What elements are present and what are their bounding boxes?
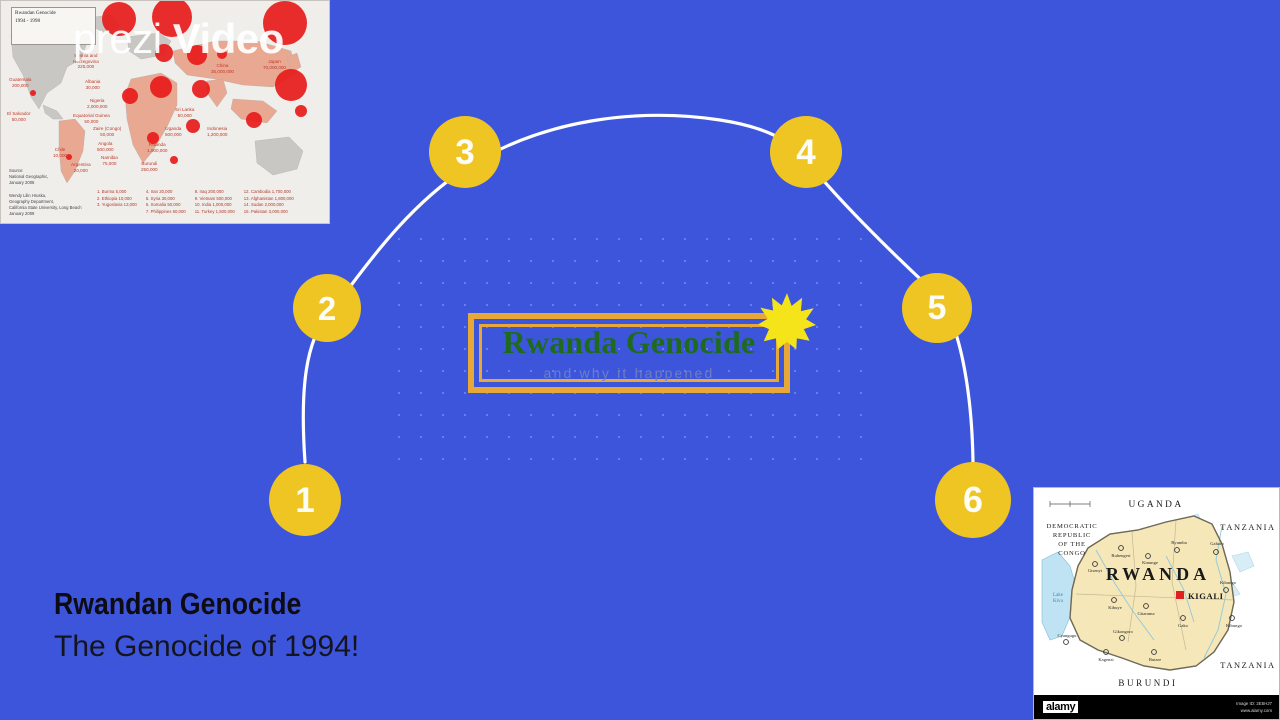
map-country-label: Equatorial Guinea 50,000 [73, 113, 110, 124]
legend-column-2: 4. Iran 20,000 5. Syria 30,000 6. Somali… [146, 189, 186, 215]
path-node-6-label: 6 [963, 482, 983, 518]
map-country-label: Bosnia and Herzegovina 225,000 [73, 53, 99, 70]
svg-text:Kibungo: Kibungo [1226, 623, 1243, 628]
svg-text:Gikongoro: Gikongoro [1113, 629, 1134, 634]
path-node-6[interactable]: 6 [935, 462, 1011, 538]
map-country-label: Zaire (Congo) 50,000 [93, 126, 121, 137]
map-country-label: El Salvador 50,000 [7, 111, 31, 122]
svg-text:Lake: Lake [1053, 593, 1064, 598]
alamy-credit: Image ID: 2E5HJ7 www.alamy.com [1236, 700, 1272, 714]
path-node-2-label: 2 [318, 292, 336, 325]
path-node-5-label: 5 [928, 291, 947, 325]
svg-text:Gako: Gako [1178, 623, 1189, 628]
path-node-3[interactable]: 3 [429, 116, 501, 188]
map-country-label: Angola 500,000 [97, 141, 114, 152]
caption-subheading: The Genocide of 1994! [54, 630, 359, 664]
map-country-label: Japan 70,000,000 [263, 59, 286, 70]
rwanda-map-inset[interactable]: RWANDA KIGALI UGANDA TANZANIA TANZANIA B… [1033, 487, 1280, 720]
path-node-2[interactable]: 2 [293, 274, 361, 342]
path-node-5[interactable]: 5 [902, 273, 972, 343]
svg-text:Butare: Butare [1149, 657, 1161, 662]
map-country-label: Chile 10,000 [53, 147, 67, 158]
map-country-label: Uganda 500,000 [165, 126, 182, 137]
svg-text:REPUBLIC: REPUBLIC [1053, 532, 1091, 539]
svg-text:Ruhengeri: Ruhengeri [1111, 553, 1131, 558]
path-node-4[interactable]: 4 [770, 116, 842, 188]
map-country-label: Indonesia 1,200,000 [207, 126, 227, 137]
path-node-1[interactable]: 1 [269, 464, 341, 536]
page-title: Rwanda Genocide [474, 324, 784, 361]
svg-text:Byumba: Byumba [1171, 540, 1187, 545]
svg-text:CONGO: CONGO [1058, 550, 1085, 557]
rwanda-map-graphic: RWANDA KIGALI UGANDA TANZANIA TANZANIA B… [1036, 490, 1279, 695]
svg-text:Kagenzi: Kagenzi [1098, 657, 1114, 662]
legend-column-4: 12. Cambodia 1,700,000 13. Afghanistan 1… [244, 189, 294, 215]
svg-text:RWANDA: RWANDA [1106, 564, 1210, 584]
legend-column-3: 8. Iraq 200,000 9. Vietnam 500,000 10. I… [195, 189, 235, 215]
world-map-legend: 1. Burma 5,000 2. Ethiopia 10,000 3. Yug… [97, 189, 321, 215]
legend-column-1: 1. Burma 5,000 2. Ethiopia 10,000 3. Yug… [97, 189, 137, 215]
svg-text:Kibuye: Kibuye [1108, 605, 1122, 610]
presentation-slide: 1 2 3 4 5 6 Rwanda Genocide and why it h… [0, 0, 1280, 720]
svg-text:TANZANIA: TANZANIA [1220, 661, 1275, 670]
world-map-source-note: Source: National Geographic, January 200… [9, 168, 82, 217]
path-node-3-label: 3 [455, 135, 474, 170]
svg-text:BURUNDI: BURUNDI [1118, 678, 1177, 688]
map-country-label: Nigeria 2,000,000 [87, 98, 107, 109]
svg-text:Kivu: Kivu [1053, 599, 1064, 604]
page-subtitle: and why it happened [474, 365, 784, 381]
alamy-watermark-bar: alamy Image ID: 2E5HJ7 www.alamy.com [1034, 695, 1279, 719]
svg-text:Gaharo: Gaharo [1210, 541, 1224, 546]
map-country-label: China 35,000,000 [211, 63, 234, 74]
alamy-logo: alamy [1043, 701, 1078, 713]
svg-text:Cyangugu: Cyangugu [1058, 633, 1078, 638]
world-map-title-box: Rwandan Genocide 1994 - 1998 [11, 7, 96, 45]
svg-text:Gisenyi: Gisenyi [1088, 568, 1103, 573]
title-frame: Rwanda Genocide and why it happened [468, 313, 790, 393]
svg-text:UGANDA: UGANDA [1128, 500, 1183, 510]
svg-text:DEMOCRATIC: DEMOCRATIC [1047, 523, 1098, 530]
map-country-label: Burundi 250,000 [141, 161, 158, 172]
svg-text:Kibungo: Kibungo [1220, 580, 1237, 585]
world-genocide-map-inset[interactable]: Rwandan Genocide 1994 - 1998 Guatemala 2… [0, 0, 330, 224]
caption-heading: Rwandan Genocide [54, 586, 301, 622]
path-node-4-label: 4 [796, 135, 815, 170]
map-country-label: Sri Lanka 50,000 [175, 107, 194, 118]
path-node-1-label: 1 [295, 483, 314, 518]
map-country-label: Rwanda 1,000,000 [147, 142, 167, 153]
world-map-title: Rwandan Genocide [15, 10, 92, 18]
map-country-label: Namibia 75,000 [101, 155, 118, 166]
world-map-title-dates: 1994 - 1998 [15, 18, 92, 26]
svg-text:TANZANIA: TANZANIA [1220, 523, 1275, 532]
svg-text:Kinunge: Kinunge [1142, 560, 1158, 565]
svg-text:OF THE: OF THE [1058, 541, 1086, 548]
svg-text:Gitarama: Gitarama [1137, 611, 1154, 616]
map-country-label: Albania 30,000 [85, 79, 100, 90]
svg-text:KIGALI: KIGALI [1188, 591, 1224, 601]
map-country-label: Guatemala 200,000 [9, 77, 31, 88]
